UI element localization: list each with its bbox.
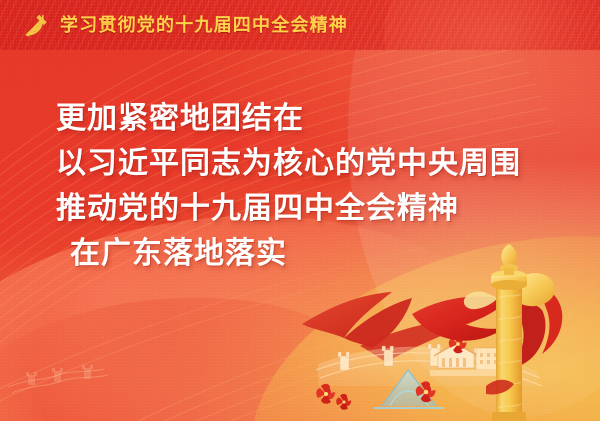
banner-title: 学习贯彻党的十九届四中全会精神 (60, 16, 348, 34)
headline-line-3: 推动党的十九届四中全会精神 (56, 186, 526, 231)
banner-glow (384, 0, 600, 50)
header-banner: 学习贯彻党的十九届四中全会精神 (0, 0, 600, 50)
headline-block: 更加紧密地团结在 以习近平同志为核心的党中央周围 推动党的十九届四中全会精神 在… (56, 96, 526, 276)
headline-line-1: 更加紧密地团结在 (56, 96, 526, 141)
cpc-hammer-sickle-emblem-icon (20, 10, 50, 40)
headline-line-2: 以习近平同志为核心的党中央周围 (56, 141, 526, 186)
poster-canvas: 学习贯彻党的十九届四中全会精神 更加紧密地团结在 以习近平同志为核心的党中央周围… (0, 0, 600, 421)
headline-line-4: 在广东落地落实 (56, 231, 526, 276)
